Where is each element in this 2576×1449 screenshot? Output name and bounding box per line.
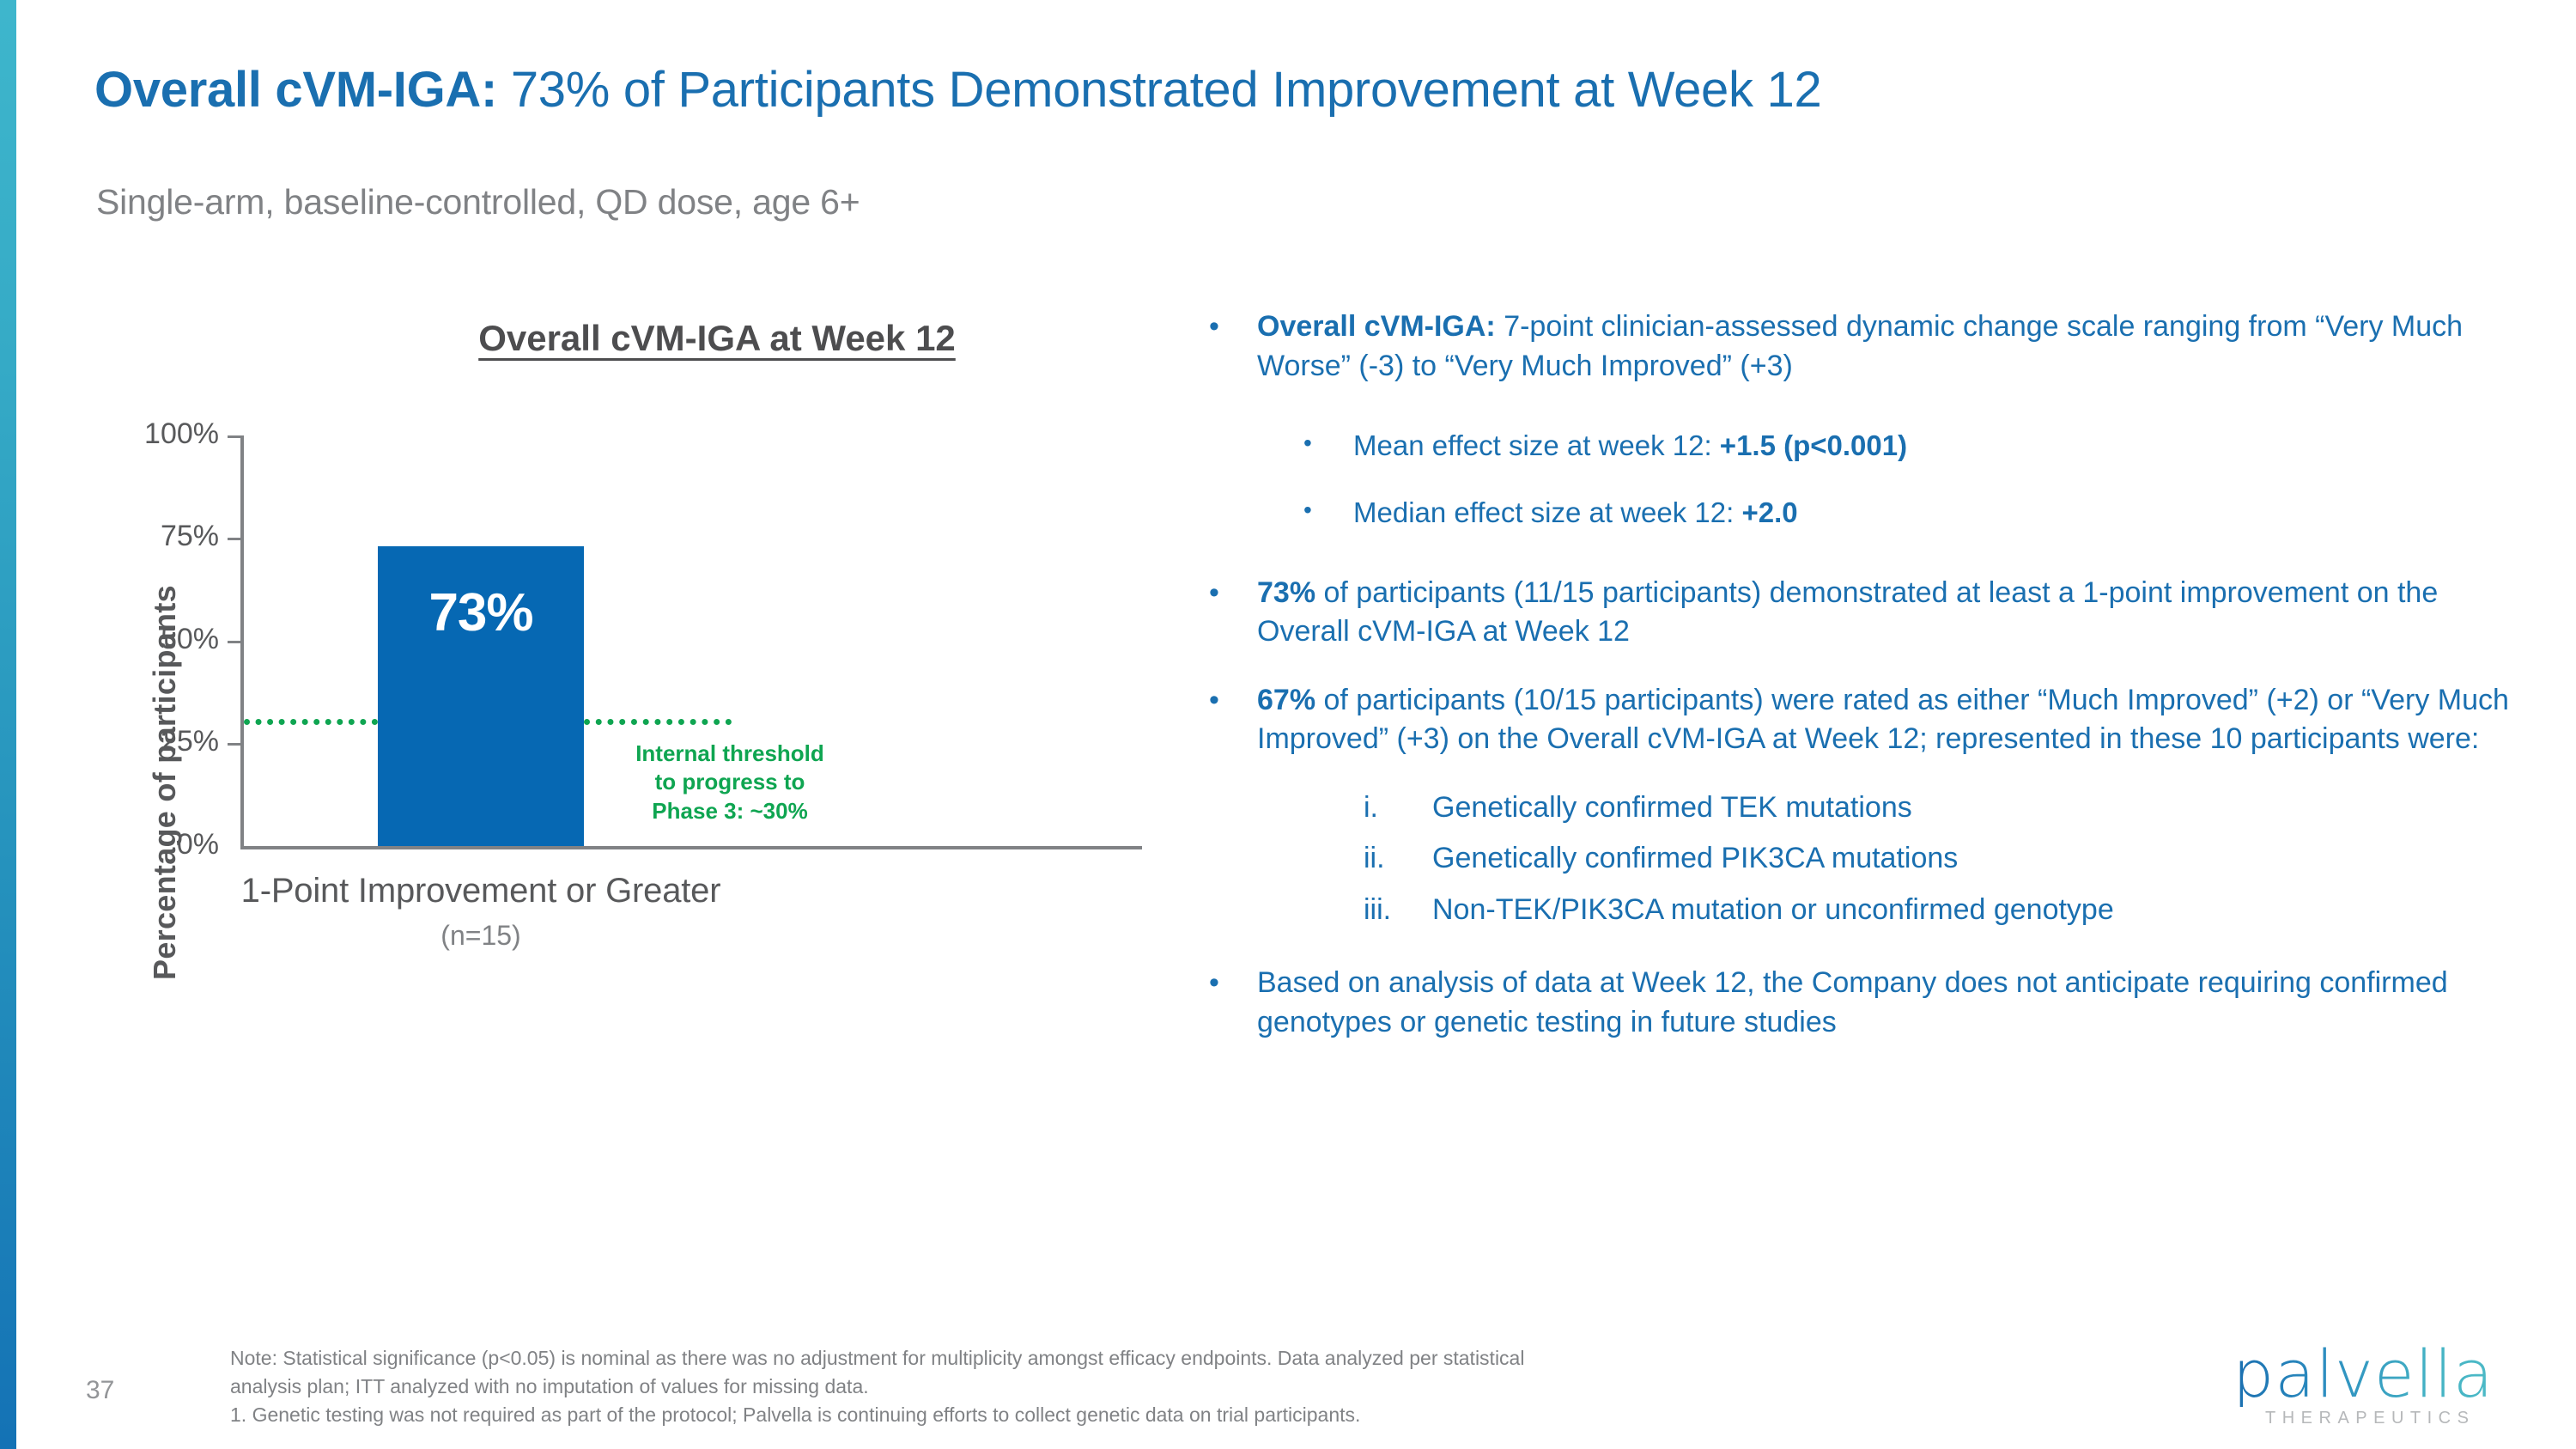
bullet-item-67-percent: • 67% of participants (10/15 participant…	[1209, 681, 2531, 759]
bullet-item-genotype-future-studies: • Based on analysis of data at Week 12, …	[1209, 964, 2531, 1042]
spacer	[1209, 415, 2531, 427]
slide: Overall cVM-IGA: 73% of Participants Dem…	[0, 0, 2576, 1449]
threshold-annotation-line2: to progress to	[588, 768, 872, 796]
threshold-line-left	[244, 719, 378, 725]
page-title-rest: 73% of Participants Demonstrated Improve…	[497, 62, 1821, 118]
bullet-item-73-percent: • 73% of participants (11/15 participant…	[1209, 574, 2531, 652]
numbered-marker: i.	[1364, 788, 1432, 828]
y-tick-label-25: 25%	[116, 725, 219, 758]
bullet-text: 73% of participants (11/15 participants)…	[1257, 574, 2531, 652]
y-tick-25	[228, 743, 243, 746]
footnotes: Note: Statistical significance (p<0.05) …	[230, 1344, 2119, 1429]
bullet-bold-tail: +1.5 (p<0.001)	[1720, 429, 1907, 461]
chart-title: Overall cVM-IGA at Week 12	[361, 318, 1073, 359]
footnote-line-3: 1. Genetic testing was not required as p…	[230, 1401, 2119, 1429]
numbered-marker: ii.	[1364, 839, 1432, 879]
numbered-item-pik3ca: ii. Genetically confirmed PIK3CA mutatio…	[1364, 839, 2531, 879]
bar-1-point-improvement[interactable]: 73%	[378, 546, 584, 846]
palvella-logo: palvella THERAPEUTICS	[2233, 1342, 2542, 1436]
threshold-annotation-line1: Internal threshold	[588, 740, 872, 768]
bullet-item-overall-cvm-iga: • Overall cVM-IGA: 7-point clinician-ass…	[1209, 307, 2531, 386]
bullet-body: Based on analysis of data at Week 12, th…	[1257, 964, 2531, 1042]
bullet-text: Mean effect size at week 12: +1.5 (p<0.0…	[1353, 427, 1907, 465]
bullet-body: Median effect size at week 12:	[1353, 496, 1741, 528]
bullet-body: of participants (11/15 participants) dem…	[1257, 576, 2438, 648]
bullet-list: • Overall cVM-IGA: 7-point clinician-ass…	[1209, 307, 2531, 1071]
bullet-item-median-effect-size: • Median effect size at week 12: +2.0	[1303, 494, 2531, 532]
numbered-marker: iii.	[1364, 891, 1432, 930]
threshold-annotation: Internal threshold to progress to Phase …	[588, 740, 872, 825]
numbered-text: Genetically confirmed PIK3CA mutations	[1432, 839, 1958, 879]
footnote-line-2: analysis plan; ITT analyzed with no impu…	[230, 1373, 2119, 1401]
threshold-line-right	[584, 719, 732, 725]
page-number: 37	[86, 1376, 114, 1405]
y-tick-label-50: 50%	[116, 623, 219, 656]
chart-container: Overall cVM-IGA at Week 12 Percentage of…	[86, 318, 1202, 1297]
bullet-body: Mean effect size at week 12:	[1353, 429, 1720, 461]
bullet-bold-lead: Overall cVM-IGA:	[1257, 310, 1496, 343]
y-tick-label-0: 0%	[116, 828, 219, 861]
chart-plot-area: 100% 75% 50% 25% 0% 73% Internal thre	[155, 423, 1176, 973]
page-subtitle: Single-arm, baseline-controlled, QD dose…	[96, 182, 860, 222]
logo-tagline: THERAPEUTICS	[2265, 1409, 2542, 1428]
y-tick-75	[228, 538, 243, 540]
bullet-dot-icon: •	[1209, 307, 1257, 386]
bullet-bold-tail: +2.0	[1741, 496, 1797, 528]
numbered-item-unconfirmed: iii. Non-TEK/PIK3CA mutation or unconfir…	[1364, 891, 2531, 930]
x-axis-category-sublabel: (n=15)	[94, 920, 867, 952]
y-tick-100	[228, 435, 243, 438]
page-title: Overall cVM-IGA: 73% of Participants Dem…	[94, 64, 1821, 118]
page-title-bold: Overall cVM-IGA:	[94, 62, 497, 118]
left-accent-bar	[0, 0, 16, 1449]
numbered-text: Non-TEK/PIK3CA mutation or unconfirmed g…	[1432, 891, 2114, 930]
footnote-line-1: Note: Statistical significance (p<0.05) …	[230, 1344, 2119, 1373]
logo-wordmark: palvella	[2233, 1342, 2542, 1407]
bullet-text: Overall cVM-IGA: 7-point clinician-asses…	[1257, 307, 2531, 386]
bullet-text: Median effect size at week 12: +2.0	[1353, 494, 1798, 532]
y-tick-label-100: 100%	[116, 417, 219, 451]
bullet-dot-icon: •	[1303, 494, 1353, 532]
bullet-dot-icon: •	[1209, 964, 1257, 1042]
numbered-item-tek: i. Genetically confirmed TEK mutations	[1364, 788, 2531, 828]
bullet-dot-icon: •	[1209, 681, 1257, 759]
bullet-dot-icon: •	[1209, 574, 1257, 652]
threshold-annotation-line3: Phase 3: ~30%	[588, 797, 872, 825]
bullet-body: of participants (10/15 participants) wer…	[1257, 684, 2509, 756]
y-tick-label-75: 75%	[116, 520, 219, 553]
x-axis-line	[240, 846, 1142, 849]
spacer	[1209, 941, 2531, 964]
bullet-text: 67% of participants (10/15 participants)…	[1257, 681, 2531, 759]
bullet-dot-icon: •	[1303, 427, 1353, 465]
numbered-text: Genetically confirmed TEK mutations	[1432, 788, 1912, 828]
y-tick-50	[228, 641, 243, 643]
spacer	[1209, 562, 2531, 574]
bullet-item-mean-effect-size: • Mean effect size at week 12: +1.5 (p<0…	[1303, 427, 2531, 465]
bullet-bold-lead: 73%	[1257, 576, 1315, 609]
bullet-bold-lead: 67%	[1257, 684, 1315, 716]
x-axis-category-label: 1-Point Improvement or Greater	[94, 872, 867, 910]
bar-value-label: 73%	[378, 582, 584, 643]
